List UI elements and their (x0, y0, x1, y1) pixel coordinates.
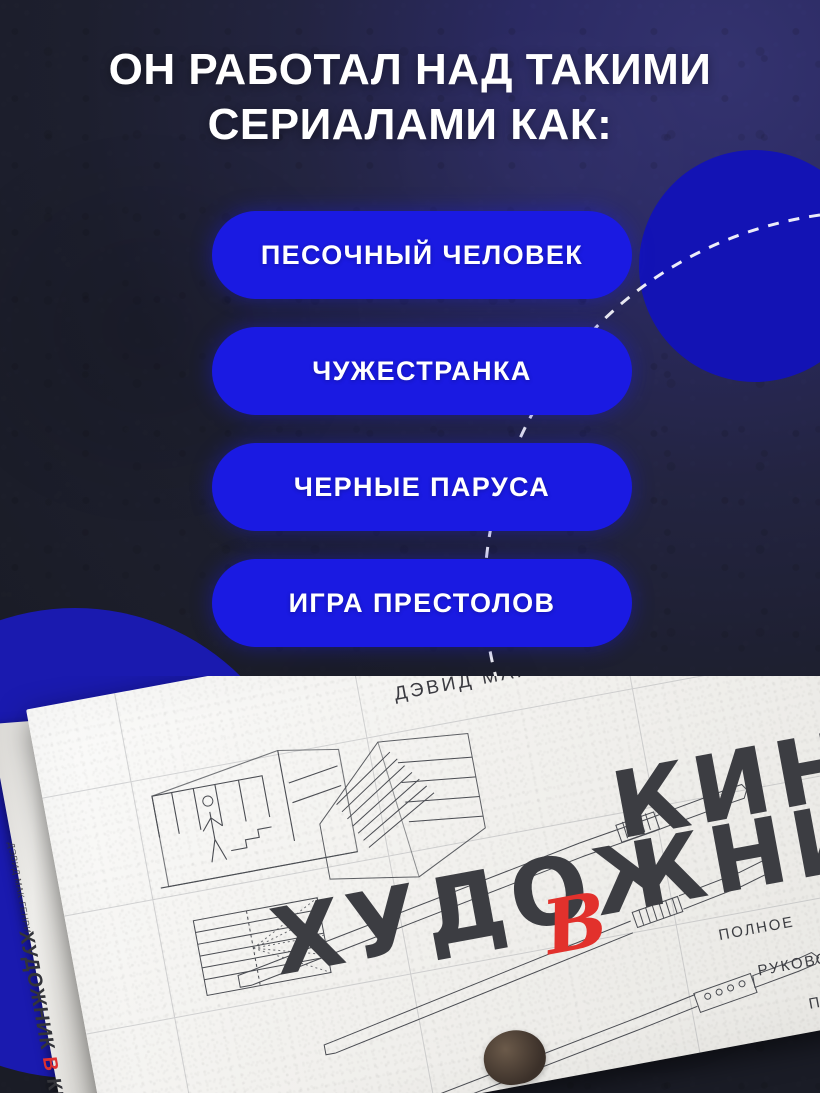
book-cover: ДЭВИД МАК-ГЕНРИ ХУДОЖНИК КИНО В ПОЛНОЕ Р… (26, 676, 820, 1093)
series-pill-outlander[interactable]: ЧУЖЕСТРАНКА (212, 327, 632, 415)
headline-line-2: СЕРИАЛАМИ КАК: (0, 97, 820, 152)
book-spine-title: ХУДОЖНИК В КИНО (13, 930, 74, 1093)
drawing-interior (140, 740, 357, 889)
headline: ОН РАБОТАЛ НАД ТАКИМИ СЕРИАЛАМИ КАК: (0, 42, 820, 153)
series-pill-sandman[interactable]: ПЕСОЧНЫЙ ЧЕЛОВЕК (212, 211, 632, 299)
series-pill-list: ПЕСОЧНЫЙ ЧЕЛОВЕК ЧУЖЕСТРАНКА ЧЕРНЫЕ ПАРУ… (212, 211, 632, 647)
headline-line-1: ОН РАБОТАЛ НАД ТАКИМИ (0, 42, 820, 97)
promo-slide: ОН РАБОТАЛ НАД ТАКИМИ СЕРИАЛАМИ КАК: ПЕС… (0, 0, 820, 1093)
book-spine-author: ДЭВИД МАК-ГЕНРИ (6, 842, 23, 878)
series-pill-got[interactable]: ИГРА ПРЕСТОЛОВ (212, 559, 632, 647)
book-photo: ДЭВИД МАК-ГЕНРИ ХУДОЖНИК В КИНО (0, 676, 820, 1093)
book-object: ДЭВИД МАК-ГЕНРИ ХУДОЖНИК В КИНО (6, 676, 820, 1093)
series-pill-blacksails[interactable]: ЧЕРНЫЕ ПАРУСА (212, 443, 632, 531)
